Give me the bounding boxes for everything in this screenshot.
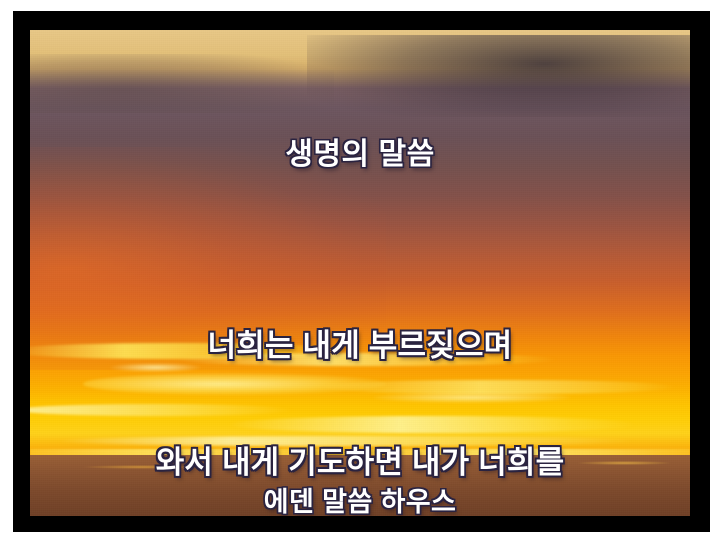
headline-title: 생명의 말씀 (30, 138, 690, 172)
ministry-signature: 에덴 말씀 하우스 (30, 487, 690, 516)
verse-line-1: 너희는 내게 부르짖으며 (30, 326, 690, 365)
slide-page: 생명의 말씀 너희는 내게 부르짖으며 와서 내게 기도하면 내가 너희를 들을… (0, 0, 720, 547)
photo-frame-border: 생명의 말씀 너희는 내게 부르짖으며 와서 내게 기도하면 내가 너희를 들을… (13, 11, 710, 532)
sunset-photograph: 생명의 말씀 너희는 내게 부르짖으며 와서 내게 기도하면 내가 너희를 들을… (30, 30, 690, 516)
dark-cloud-upper-left (30, 54, 334, 112)
scripture-verse: 너희는 내게 부르짖으며 와서 내게 기도하면 내가 너희를 들을 것이요 렘 … (30, 248, 690, 516)
verse-line-2: 와서 내게 기도하면 내가 너희를 (30, 443, 690, 482)
dark-cloud-upper-right (307, 35, 690, 118)
